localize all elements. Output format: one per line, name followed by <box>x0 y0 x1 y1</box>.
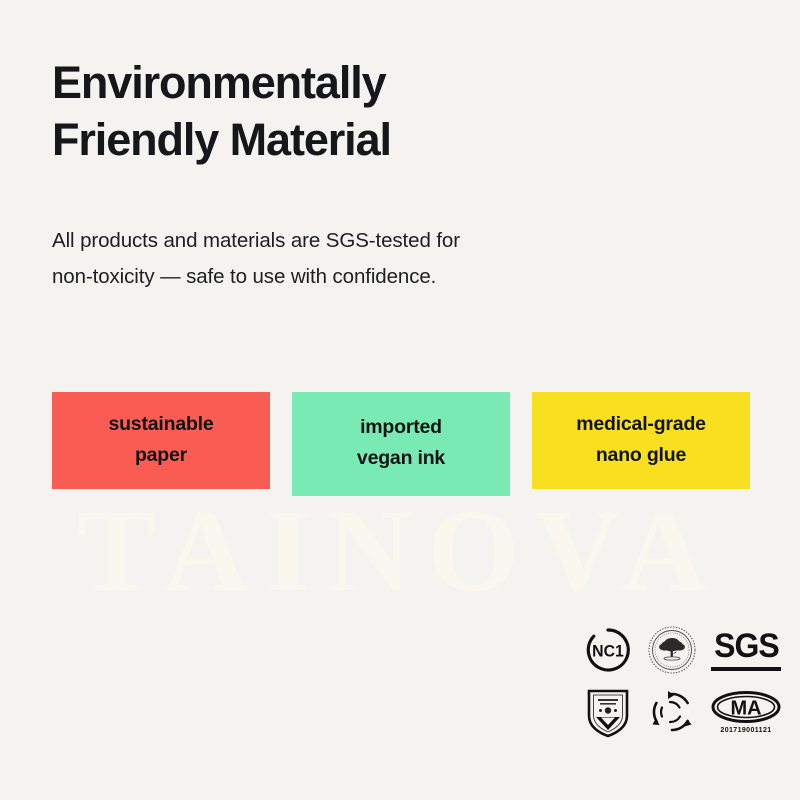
shield-badge-icon <box>576 683 640 741</box>
material-chip-group: sustainable paper imported vegan ink med… <box>52 392 750 496</box>
chip-label-line-2: vegan ink <box>302 443 500 474</box>
page-subtitle-line-1: All products and materials are SGS-teste… <box>52 223 632 258</box>
fsc-tree-seal-icon <box>640 621 704 679</box>
certification-badges: NC1 SGS <box>576 620 784 742</box>
ma-oval-icon: MA <box>711 690 781 724</box>
ma-certificate-number: 201719001121 <box>720 727 771 734</box>
svg-text:MA: MA <box>730 698 761 720</box>
sgs-badge: SGS <box>708 621 784 679</box>
chip-label-line-1: medical-grade <box>542 409 740 440</box>
recycling-icon <box>640 683 704 741</box>
sgs-underline <box>711 667 781 671</box>
page-title-line-1: Environmentally <box>52 54 572 111</box>
ma-badge: MA 201719001121 <box>708 683 784 741</box>
page-subtitle: All products and materials are SGS-teste… <box>52 168 632 294</box>
chip-label-line-2: paper <box>62 440 260 471</box>
sgs-label: SGS <box>714 629 779 663</box>
page-title-line-2: Friendly Material <box>52 111 572 168</box>
page-subtitle-line-2: non-toxicity — safe to use with confiden… <box>52 259 632 294</box>
certification-row-top: NC1 SGS <box>576 620 784 680</box>
svg-text:NC1: NC1 <box>592 642 624 660</box>
watermark-text: TAINOVA <box>0 492 800 610</box>
material-chip-nano-glue: medical-grade nano glue <box>532 392 750 489</box>
chip-label-line-1: imported <box>302 412 500 443</box>
content-area: Environmentally Friendly Material All pr… <box>0 0 800 294</box>
material-chip-sustainable-paper: sustainable paper <box>52 392 270 489</box>
certification-row-bottom: MA 201719001121 <box>576 682 784 742</box>
chip-label-line-2: nano glue <box>542 440 740 471</box>
nc1-icon: NC1 <box>576 621 640 679</box>
page-title: Environmentally Friendly Material <box>52 0 572 168</box>
chip-label-line-1: sustainable <box>62 409 260 440</box>
material-chip-vegan-ink: imported vegan ink <box>292 392 510 496</box>
